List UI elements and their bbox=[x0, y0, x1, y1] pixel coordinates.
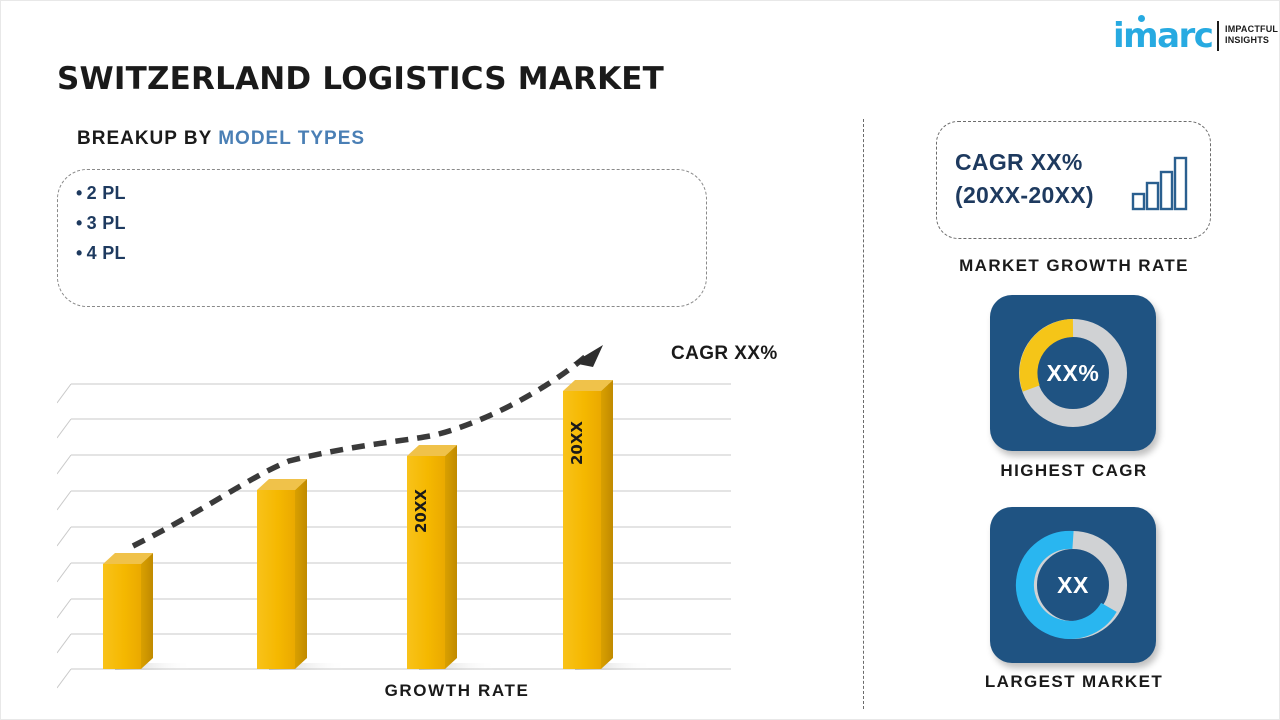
bar-value-label: 20XX bbox=[412, 489, 430, 533]
infographic-page: imarc IMPACTFUL INSIGHTS SWITZERLAND LOG… bbox=[0, 0, 1280, 720]
chart-depth-stubs bbox=[57, 384, 71, 688]
list-item-label: 3 PL bbox=[87, 213, 126, 233]
list-item: •3 PL bbox=[76, 208, 126, 238]
bar-4: 20XX bbox=[563, 380, 613, 669]
market-growth-rate-caption: MARKET GROWTH RATE bbox=[874, 256, 1274, 276]
highest-cagr-donut-icon bbox=[1013, 313, 1133, 433]
bar-value-label: 20XX bbox=[568, 421, 586, 465]
bar-3: 20XX bbox=[407, 445, 457, 669]
growth-rate-bar-chart: 20XX 20XX CAGR XX% GROWTH RATE bbox=[57, 331, 757, 711]
cagr-line-1: CAGR XX% bbox=[955, 146, 1094, 179]
highest-cagr-card: XX% bbox=[990, 295, 1156, 451]
list-item: •2 PL bbox=[76, 178, 126, 208]
chart-axis-label: GROWTH RATE bbox=[347, 681, 567, 701]
chart-gridlines bbox=[71, 384, 731, 669]
page-title: SWITZERLAND LOGISTICS MARKET bbox=[57, 61, 664, 97]
chart-canvas: 20XX 20XX bbox=[57, 331, 757, 711]
market-growth-rate-value: CAGR XX% (20XX-20XX) bbox=[955, 146, 1094, 212]
largest-market-card: XX bbox=[990, 507, 1156, 663]
subtitle-prefix: BREAKUP BY bbox=[77, 128, 218, 149]
metrics-panel: CAGR XX% (20XX-20XX) MARKET GROWTH RATE … bbox=[876, 1, 1276, 720]
bar-1 bbox=[103, 553, 153, 669]
bullet-icon: • bbox=[76, 213, 83, 233]
bullet-icon: • bbox=[76, 243, 83, 263]
arrowhead-icon bbox=[573, 345, 603, 367]
chart-cagr-label: CAGR XX% bbox=[671, 343, 778, 365]
bullet-icon: • bbox=[76, 183, 83, 203]
vertical-divider bbox=[863, 119, 864, 709]
largest-market-donut-icon bbox=[1013, 525, 1133, 645]
bar-2 bbox=[257, 479, 307, 669]
bar-chart-icon bbox=[1130, 150, 1192, 212]
subtitle-accent: MODEL TYPES bbox=[218, 128, 365, 149]
cagr-line-2: (20XX-20XX) bbox=[955, 179, 1094, 212]
highest-cagr-caption: HIGHEST CAGR bbox=[874, 461, 1274, 481]
model-types-box: •2 PL •3 PL •4 PL bbox=[57, 169, 707, 307]
largest-market-caption: LARGEST MARKET bbox=[874, 672, 1274, 692]
list-item-label: 2 PL bbox=[87, 183, 126, 203]
model-types-list: •2 PL •3 PL •4 PL bbox=[76, 178, 126, 268]
cagr-trend-arrow bbox=[133, 345, 603, 546]
list-item: •4 PL bbox=[76, 238, 126, 268]
list-item-label: 4 PL bbox=[87, 243, 126, 263]
market-growth-rate-card: CAGR XX% (20XX-20XX) bbox=[936, 121, 1211, 239]
section-subtitle: BREAKUP BY MODEL TYPES bbox=[77, 128, 365, 150]
